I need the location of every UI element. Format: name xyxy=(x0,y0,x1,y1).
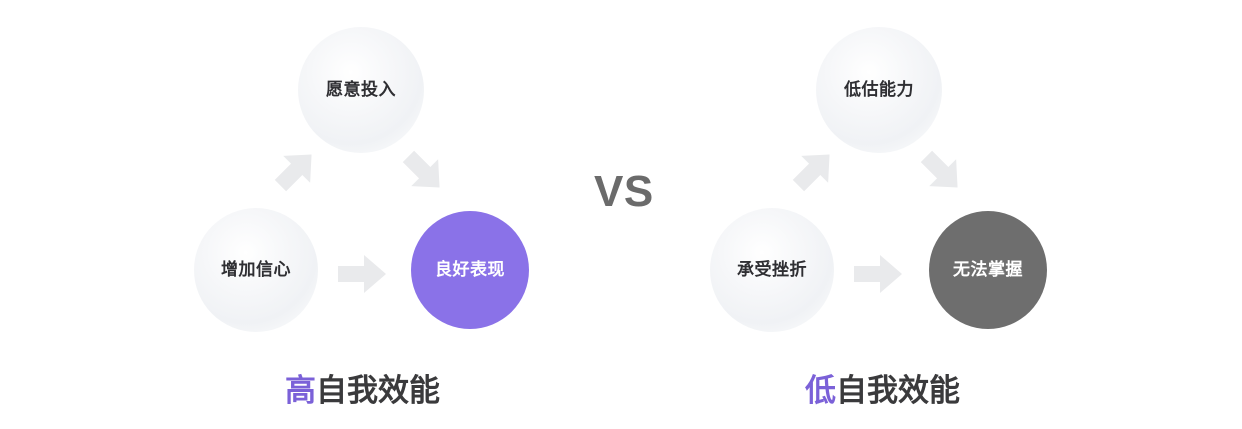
node-increase-confidence[interactable]: 增加信心 xyxy=(194,208,318,332)
node-cannot-master-label: 无法掌握 xyxy=(950,258,1026,283)
arrow-down-right-icon xyxy=(396,144,452,200)
arrow-up-right-icon xyxy=(786,142,842,198)
node-endure-setback[interactable]: 承受挫折 xyxy=(710,208,834,332)
node-increase-confidence-label: 增加信心 xyxy=(218,258,294,283)
caption-high-self-efficacy: 高自我效能 xyxy=(285,375,440,406)
node-underestimate-ability[interactable]: 低估能力 xyxy=(816,27,942,153)
node-underestimate-ability-label: 低估能力 xyxy=(841,78,917,103)
vs-divider-label: VS xyxy=(594,170,654,214)
caption-low-highlight: 低 xyxy=(805,373,836,408)
caption-high-rest: 自我效能 xyxy=(316,373,440,408)
caption-high-highlight: 高 xyxy=(285,373,316,408)
node-willing-to-invest[interactable]: 愿意投入 xyxy=(298,27,424,153)
arrow-up-right-icon xyxy=(268,142,324,198)
diagram-canvas: 愿意投入 增加信心 良好表现 xyxy=(0,0,1242,429)
arrow-right-icon xyxy=(852,252,904,296)
caption-low-rest: 自我效能 xyxy=(836,373,960,408)
node-willing-to-invest-label: 愿意投入 xyxy=(323,78,399,103)
arrow-right-icon xyxy=(336,252,388,296)
caption-low-self-efficacy: 低自我效能 xyxy=(805,375,960,406)
node-good-performance-label: 良好表现 xyxy=(432,258,508,283)
node-good-performance[interactable]: 良好表现 xyxy=(411,211,529,329)
arrow-down-right-icon xyxy=(914,144,970,200)
node-cannot-master[interactable]: 无法掌握 xyxy=(929,211,1047,329)
node-endure-setback-label: 承受挫折 xyxy=(734,258,810,283)
